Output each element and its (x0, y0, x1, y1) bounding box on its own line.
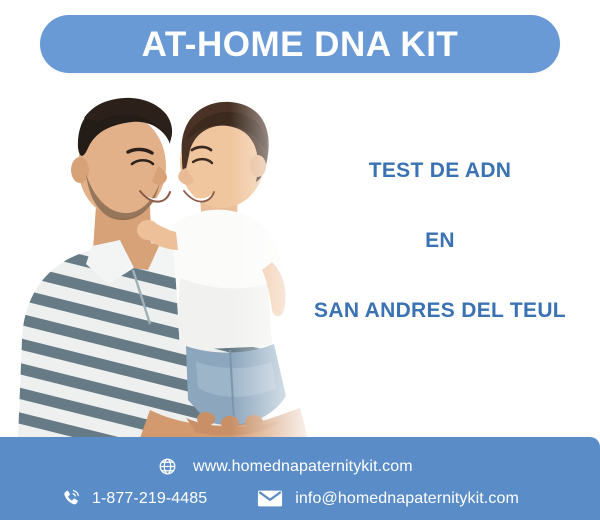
poster-canvas: AT-HOME DNA KIT (0, 0, 600, 520)
website-text[interactable]: www.homednapaternitykit.com (193, 459, 413, 475)
contact-footer-bar: www.homednapaternitykit.com 1-877-219-44… (0, 437, 600, 520)
headline-line-2: EN (290, 230, 590, 251)
email-text[interactable]: info@homednapaternitykit.com (295, 491, 519, 507)
headline-line-3: SAN ANDRES DEL TEUL (290, 300, 590, 321)
footer-website-row: www.homednapaternitykit.com (158, 457, 413, 476)
banner-title: AT-HOME DNA KIT (142, 27, 459, 62)
envelope-icon (257, 489, 283, 508)
phone-icon (60, 488, 81, 509)
family-photo-illustration (0, 78, 320, 443)
globe-icon (158, 457, 177, 476)
family-photo (0, 78, 320, 443)
phone-text[interactable]: 1-877-219-4485 (92, 491, 207, 507)
footer-contact-row: 1-877-219-4485 info@homednapaternitykit.… (60, 488, 519, 509)
headline-line-1: TEST DE ADN (290, 160, 590, 181)
headline-block: TEST DE ADN EN SAN ANDRES DEL TEUL (290, 160, 590, 321)
header-banner: AT-HOME DNA KIT (40, 15, 560, 73)
